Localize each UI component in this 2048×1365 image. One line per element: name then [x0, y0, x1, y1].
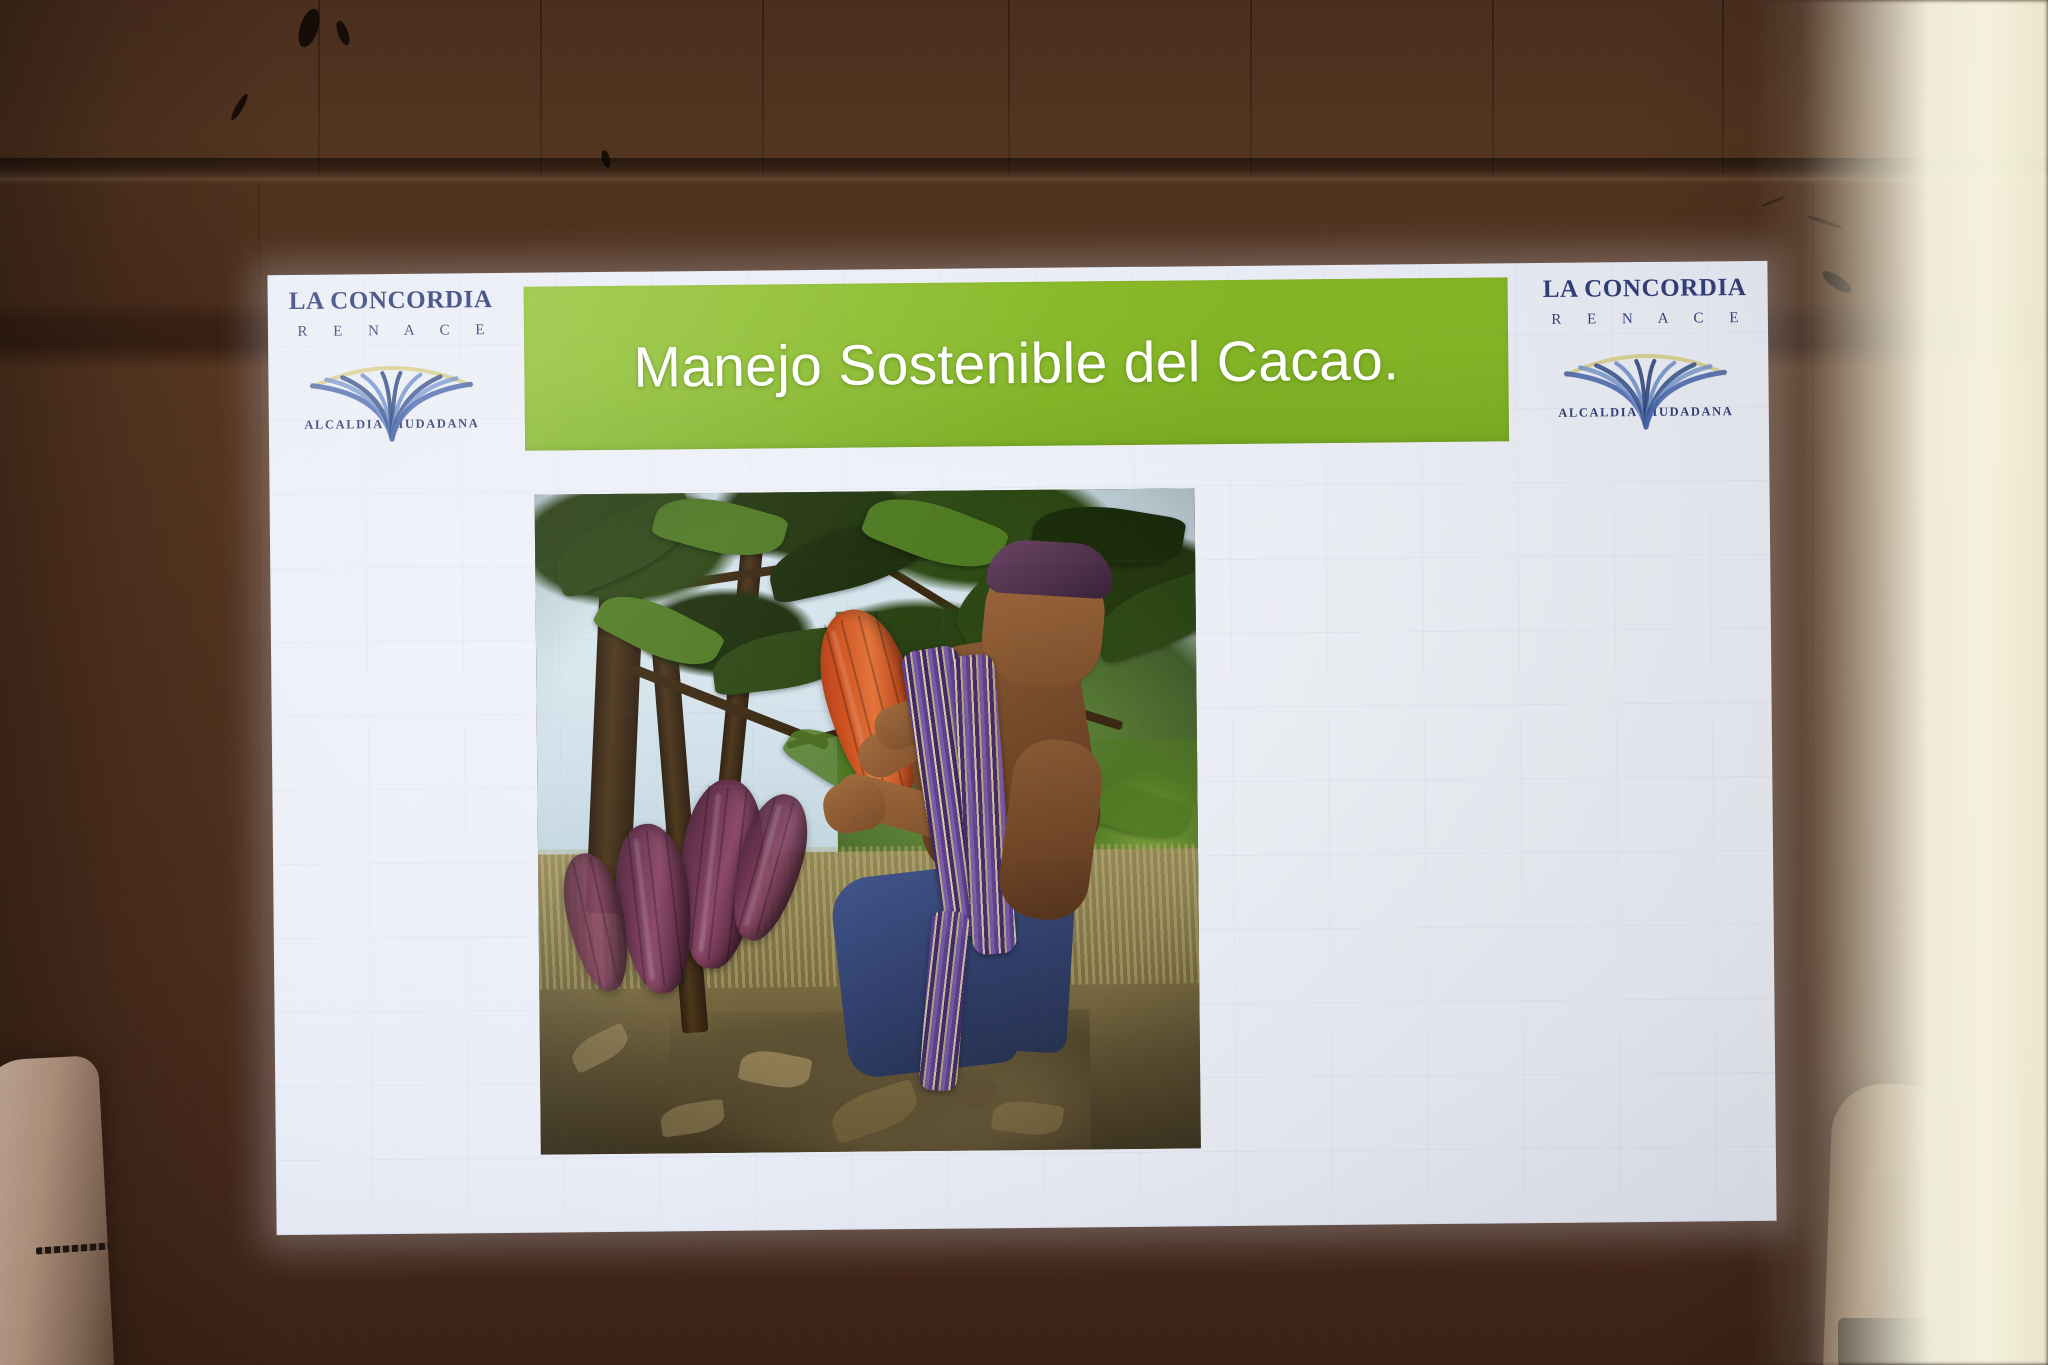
- logo-emblem-left: R E N A C E: [286, 316, 497, 422]
- wall-plank-seam: [762, 0, 764, 175]
- slide-title-band: Manejo Sostenible del Cacao.: [524, 277, 1510, 450]
- slide-title: Manejo Sostenible del Cacao.: [633, 327, 1399, 400]
- wall-plank-seam: [1492, 0, 1494, 175]
- wall-horizontal-beam: [0, 158, 2048, 178]
- window-light-glare: [1748, 0, 2048, 1365]
- slide-surface: LA CONCORDIA R E N A C E: [267, 261, 1776, 1235]
- logo-emblem-right: R E N A C E: [1540, 304, 1751, 410]
- logo-motto-right: R E N A C E: [1540, 310, 1750, 329]
- wall-plank-seam: [1722, 0, 1724, 175]
- wall-beam-highlight: [0, 178, 2048, 184]
- logo-la-concordia-left: LA CONCORDIA R E N A C E: [286, 287, 498, 457]
- audience-member-left: [0, 1055, 114, 1365]
- logo-title-right: LA CONCORDIA: [1540, 275, 1750, 302]
- projected-slide: LA CONCORDIA R E N A C E: [267, 261, 1776, 1235]
- wall-plank-seam: [540, 0, 542, 175]
- wall-plank-seam: [1250, 0, 1252, 175]
- fountain-emblem-icon: [296, 342, 487, 444]
- slide-photo-cacao-harvest: [535, 488, 1201, 1154]
- projected-slide-scene: LA CONCORDIA R E N A C E: [0, 0, 2048, 1365]
- logo-title-left: LA CONCORDIA: [286, 287, 496, 314]
- fountain-emblem-icon: [1550, 330, 1741, 432]
- wall-plank-seam: [1008, 0, 1010, 175]
- logo-la-concordia-right: LA CONCORDIA R E N A C E: [1540, 275, 1752, 445]
- logo-motto-left: R E N A C E: [286, 322, 496, 341]
